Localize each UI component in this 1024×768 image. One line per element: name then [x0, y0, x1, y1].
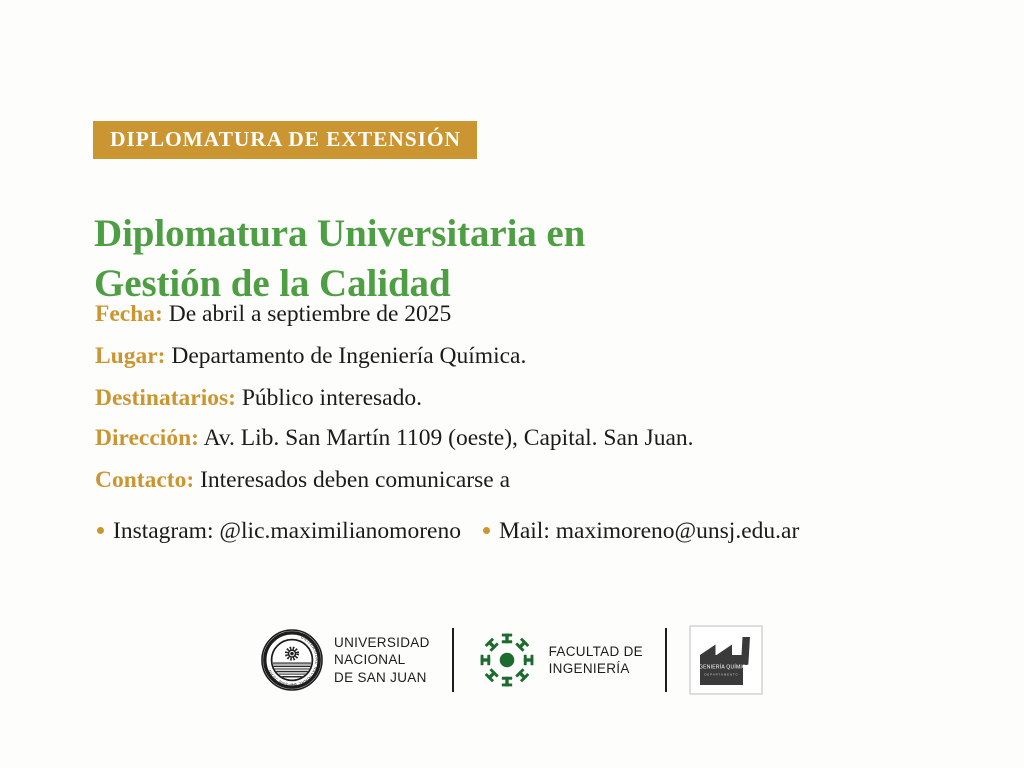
detail-value-lugar: Departamento de Ingeniería Química. [171, 343, 526, 369]
eyebrow-banner: DIPLOMATURA DE EXTENSIÓN [93, 121, 477, 159]
detail-row-contacto: Contacto: Interesados deben comunicarse … [95, 469, 995, 493]
facultad-ingenieria-icon [476, 629, 538, 691]
detail-value-fecha: De abril a septiembre de 2025 [169, 301, 452, 327]
poster-canvas: DIPLOMATURA DE EXTENSIÓN Diplomatura Uni… [0, 0, 1024, 768]
facultad-ingenieria-wordmark: FACULTAD DE INGENIERÍA [549, 643, 643, 678]
contact-item-instagram[interactable]: Instagram: @lic.maximilianomoreno [97, 520, 461, 544]
detail-label-destinatarios: Destinatarios: [95, 385, 236, 411]
svg-text:1973: 1973 [288, 683, 296, 687]
factory-icon: INGENIERÍA QUÍMICA DEPARTAMENTO [689, 625, 763, 695]
detail-row-direccion: Dirección: Av. Lib. San Martín 1109 (oes… [95, 427, 995, 451]
detail-value-contacto: Interesados deben comunicarse a [200, 467, 510, 493]
detail-label-lugar: Lugar: [95, 343, 166, 369]
detail-value-direccion: Av. Lib. San Martín 1109 (oeste), Capita… [204, 425, 694, 451]
logo-strip: UNIVERSIDAD NACIONAL DE SAN JUAN 1973 [0, 617, 1024, 703]
unsj-wordmark-line-2: NACIONAL [334, 651, 430, 668]
logo-group: UNIVERSIDAD NACIONAL DE SAN JUAN 1973 [239, 625, 785, 695]
page-title: Diplomatura Universitaria en Gestión de … [94, 209, 794, 309]
detail-label-fecha: Fecha: [95, 301, 163, 327]
page-title-line-1: Diplomatura Universitaria en [94, 209, 794, 259]
logo-ingenieria-quimica: INGENIERÍA QUÍMICA DEPARTAMENTO [667, 625, 785, 695]
bullet-icon [97, 527, 104, 534]
svg-text:INGENIERÍA QUÍMICA: INGENIERÍA QUÍMICA [693, 664, 749, 671]
detail-row-lugar: Lugar: Departamento de Ingeniería Químic… [95, 345, 995, 369]
details-list: Fecha: De abril a septiembre de 2025 Lug… [95, 303, 995, 511]
bullet-icon [483, 527, 490, 534]
svg-text:DEPARTAMENTO: DEPARTAMENTO [704, 673, 738, 677]
logo-facultad-ingenieria: FACULTAD DE INGENIERÍA [454, 629, 665, 691]
detail-row-fecha: Fecha: De abril a septiembre de 2025 [95, 303, 995, 327]
unsj-seal-icon: UNIVERSIDAD NACIONAL DE SAN JUAN 1973 [261, 629, 323, 691]
contact-list: Instagram: @lic.maximilianomoreno Mail: … [97, 520, 799, 544]
detail-row-destinatarios: Destinatarios: Público interesado. [95, 387, 995, 411]
detail-label-direccion: Dirección: [95, 425, 199, 451]
unsj-wordmark: UNIVERSIDAD NACIONAL DE SAN JUAN [334, 634, 430, 686]
logo-unsj: UNIVERSIDAD NACIONAL DE SAN JUAN 1973 [239, 629, 452, 691]
facultad-wordmark-line-1: FACULTAD DE [549, 643, 643, 660]
contact-mail-text: Mail: maximoreno@unsj.edu.ar [499, 520, 799, 544]
detail-value-destinatarios: Público interesado. [242, 385, 422, 411]
detail-label-contacto: Contacto: [95, 467, 194, 493]
facultad-wordmark-line-2: INGENIERÍA [549, 660, 643, 677]
contact-item-mail[interactable]: Mail: maximoreno@unsj.edu.ar [483, 520, 799, 544]
unsj-wordmark-line-3: DE SAN JUAN [334, 669, 430, 686]
unsj-wordmark-line-1: UNIVERSIDAD [334, 634, 430, 651]
contact-instagram-text: Instagram: @lic.maximilianomoreno [113, 520, 461, 544]
eyebrow-banner-label: DIPLOMATURA DE EXTENSIÓN [110, 129, 461, 151]
